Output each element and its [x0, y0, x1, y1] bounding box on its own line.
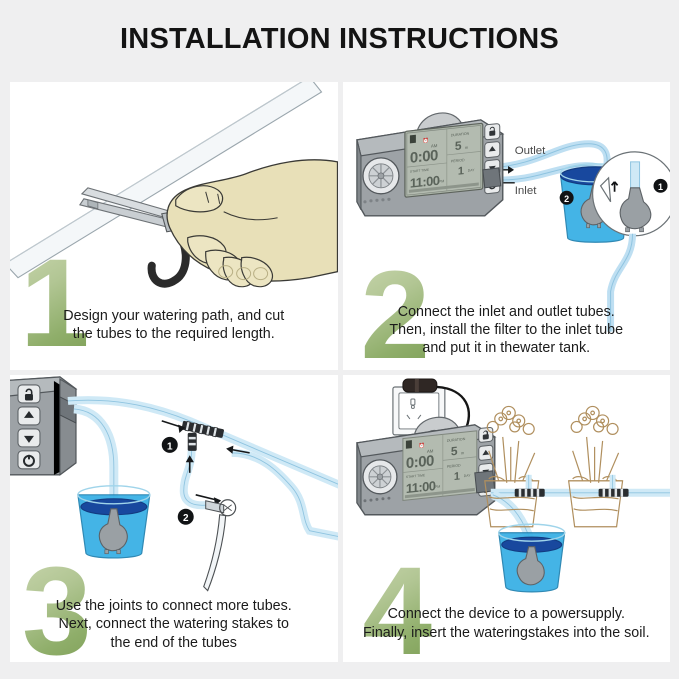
lcd-period-label: PERIOD	[450, 158, 464, 163]
filter-graphic	[581, 186, 608, 228]
watering-timer-device: ⏰ AM 0:00 DURATION 5 m PERIOD 1 DAY	[356, 113, 502, 216]
watering-stake	[204, 499, 236, 590]
lcd-period-value: 1	[457, 165, 463, 178]
callout-2	[559, 191, 573, 205]
caption-line: Connect the device to a powersupply.	[353, 605, 661, 623]
tee-joint	[181, 420, 224, 450]
filter-graphic	[517, 546, 544, 584]
svg-text:m: m	[460, 450, 464, 455]
hand-graphic	[167, 160, 337, 287]
step-caption-3: Use the joints to connect more tubes. Ne…	[10, 597, 338, 652]
page-title: INSTALLATION INSTRUCTIONS	[0, 23, 679, 56]
svg-text:2: 2	[564, 194, 569, 204]
lock-icon	[25, 388, 33, 400]
svg-text:PM: PM	[434, 484, 439, 489]
caption-line: Next, connect the watering stakes to	[20, 615, 328, 633]
caption-line: Then, install the filter to the inlet tu…	[353, 321, 661, 339]
bucket-tube	[492, 494, 530, 554]
callout-1: 1	[162, 436, 178, 452]
caption-line: the end of the tubes	[20, 634, 328, 652]
step-caption-4: Connect the device to a powersupply. Fin…	[343, 605, 671, 642]
lcd-start-ampm: PM	[438, 179, 443, 184]
tubes-graphic	[492, 144, 626, 206]
svg-text:5: 5	[450, 443, 457, 458]
callout-2: 2	[178, 508, 194, 524]
water-tank: 2	[559, 164, 630, 242]
svg-text:⏰: ⏰	[422, 137, 428, 145]
svg-text:1: 1	[658, 182, 663, 192]
device-button-column	[484, 123, 499, 193]
flow-arrows	[496, 167, 514, 185]
up-arrow-icon	[24, 410, 34, 417]
caption-line: the tubes to the required length.	[20, 325, 328, 343]
caption-line: Finally, insert the wateringstakes into …	[353, 624, 661, 642]
power-icon	[24, 454, 34, 465]
watering-timer-device-partial	[10, 376, 76, 474]
svg-text:DAY: DAY	[463, 473, 470, 478]
caption-line: Use the joints to connect more tubes.	[20, 597, 328, 615]
lcd-start-value: 11:00	[409, 173, 439, 191]
down-arrow-icon	[24, 435, 34, 442]
tubes-graphic	[68, 400, 338, 537]
steps-grid: 1 Design your watering path, and cut the…	[10, 82, 670, 662]
caption-line: and put it in thewater tank.	[353, 339, 661, 357]
panel-step-1: 1 Design your watering path, and cut the…	[10, 82, 338, 370]
panel-step-3: 1 2 3	[10, 375, 338, 663]
filter-graphic	[99, 508, 127, 553]
svg-text:2: 2	[183, 513, 189, 524]
power-outlet	[392, 378, 444, 434]
lcd-duration-unit: m	[464, 145, 468, 150]
lcd-start-label: START TIME	[409, 168, 429, 174]
svg-text:START TIME: START TIME	[405, 473, 425, 479]
lcd-duration-label: DURATION	[450, 132, 469, 138]
caption-line: Connect the inlet and outlet tubes.	[353, 303, 661, 321]
step-caption-2: Connect the inlet and outlet tubes. Then…	[343, 303, 671, 358]
step-caption-1: Design your watering path, and cut the t…	[10, 307, 338, 344]
svg-text:⏰: ⏰	[418, 442, 424, 450]
flow-arrows	[162, 420, 250, 503]
potted-plant	[484, 406, 622, 526]
scissors-graphic	[80, 188, 246, 284]
panel-step-4: ⏰ AM 0:00 DURATION 5 m PERIOD 1 DAY STAR…	[343, 375, 671, 663]
caption-line: Design your watering path, and cut	[20, 307, 328, 325]
device-button-column	[18, 384, 40, 468]
installation-instructions-page: INSTALLATION INSTRUCTIONS	[0, 0, 679, 679]
svg-text:11:00: 11:00	[405, 478, 435, 496]
device-button-column	[478, 427, 492, 496]
inlet-label: Inlet	[514, 185, 536, 197]
callout-1	[653, 179, 667, 193]
svg-text:AM: AM	[426, 448, 433, 454]
lcd-clock: 0:00	[409, 147, 437, 167]
riser-tubes	[528, 474, 612, 490]
panel-step-2: ⏰ AM 0:00 DURATION 5 m PERIOD 1 DAY	[343, 82, 671, 370]
inline-joint	[514, 488, 628, 496]
watering-timer-device: ⏰ AM 0:00 DURATION 5 m PERIOD 1 DAY STAR…	[356, 417, 494, 514]
svg-text:1: 1	[453, 470, 459, 483]
outlet-label: Outlet	[514, 145, 545, 157]
svg-text:PERIOD: PERIOD	[446, 463, 460, 468]
lcd-ampm: AM	[430, 143, 437, 149]
svg-text:0:00: 0:00	[405, 452, 433, 472]
svg-text:1: 1	[167, 441, 173, 452]
lcd-duration-value: 5	[454, 138, 461, 153]
filter-detail-callout: 1	[592, 152, 670, 236]
lcd-period-unit: DAY	[467, 168, 474, 173]
svg-text:DURATION: DURATION	[446, 436, 465, 442]
step-numeral-1: 1	[20, 245, 90, 364]
water-bucket	[498, 524, 564, 592]
